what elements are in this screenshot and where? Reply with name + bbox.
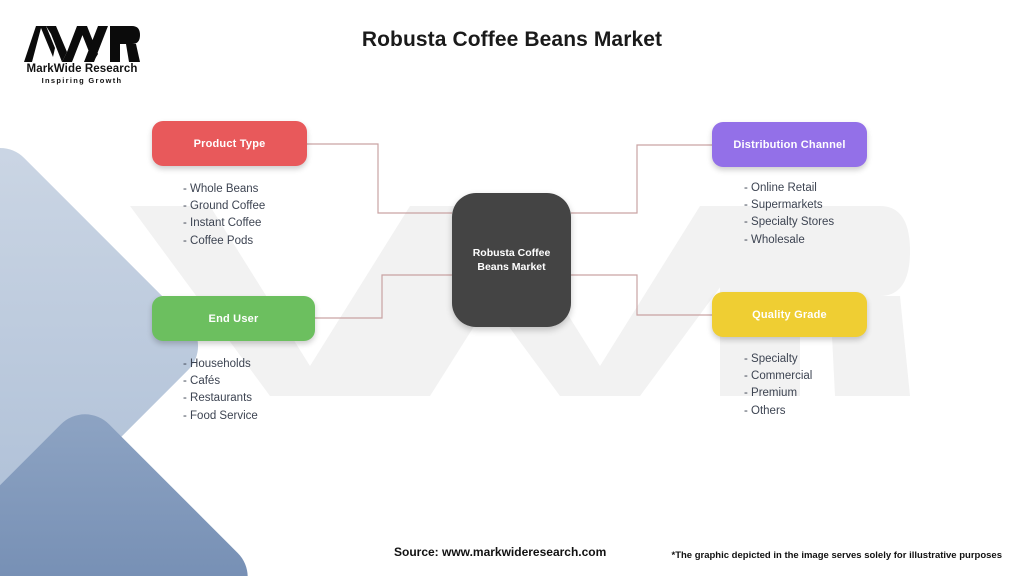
center-node-line-1: Robusta Coffee — [473, 247, 551, 259]
disclaimer-label: *The graphic depicted in the image serve… — [672, 550, 1003, 561]
branch-title-distribution-channel: Distribution Channel — [733, 139, 845, 151]
branch-header-product-type[interactable]: Product Type — [152, 121, 307, 166]
list-item: - Households — [183, 356, 315, 373]
branch-header-quality-grade[interactable]: Quality Grade — [712, 292, 867, 337]
list-item: - Coffee Pods — [183, 233, 307, 250]
branch-header-end-user[interactable]: End User — [152, 296, 315, 341]
branch-title-product-type: Product Type — [194, 138, 266, 150]
branch-list-quality-grade: - Specialty - Commercial - Premium - Oth… — [744, 351, 867, 420]
center-node-label: Robusta Coffee Beans Market — [467, 246, 557, 274]
list-item: - Specialty Stores — [744, 214, 867, 231]
list-item: - Others — [744, 403, 867, 420]
branch-list-end-user: - Households - Cafés - Restaurants - Foo… — [183, 356, 315, 425]
source-label: Source: www.markwideresearch.com — [394, 545, 606, 559]
list-item: - Ground Coffee — [183, 198, 307, 215]
branch-title-quality-grade: Quality Grade — [752, 309, 827, 321]
logo-tagline: Inspiring Growth — [22, 76, 142, 85]
branch-distribution-channel: Distribution Channel - Online Retail - S… — [712, 122, 867, 249]
list-item: - Cafés — [183, 373, 315, 390]
branch-quality-grade: Quality Grade - Specialty - Commercial -… — [712, 292, 867, 420]
list-item: - Instant Coffee — [183, 215, 307, 232]
list-item: - Specialty — [744, 351, 867, 368]
page-title: Robusta Coffee Beans Market — [0, 28, 1024, 52]
list-item: - Whole Beans — [183, 181, 307, 198]
infographic-canvas: MarkWide Research Inspiring Growth Robus… — [0, 0, 1024, 576]
branch-list-product-type: - Whole Beans - Ground Coffee - Instant … — [183, 181, 307, 250]
list-item: - Food Service — [183, 408, 315, 425]
list-item: - Premium — [744, 385, 867, 402]
branch-list-distribution-channel: - Online Retail - Supermarkets - Special… — [744, 180, 867, 249]
branch-end-user: End User - Households - Cafés - Restaura… — [152, 296, 315, 425]
branch-title-end-user: End User — [209, 313, 259, 325]
branch-product-type: Product Type - Whole Beans - Ground Coff… — [152, 121, 307, 250]
center-node-line-2: Beans Market — [477, 261, 545, 273]
decorative-shape-dark — [0, 400, 262, 576]
list-item: - Restaurants — [183, 390, 315, 407]
list-item: - Wholesale — [744, 232, 867, 249]
center-node: Robusta Coffee Beans Market — [452, 193, 571, 327]
list-item: - Commercial — [744, 368, 867, 385]
logo-company-name: MarkWide Research — [22, 63, 142, 75]
branch-header-distribution-channel[interactable]: Distribution Channel — [712, 122, 867, 167]
list-item: - Supermarkets — [744, 197, 867, 214]
list-item: - Online Retail — [744, 180, 867, 197]
